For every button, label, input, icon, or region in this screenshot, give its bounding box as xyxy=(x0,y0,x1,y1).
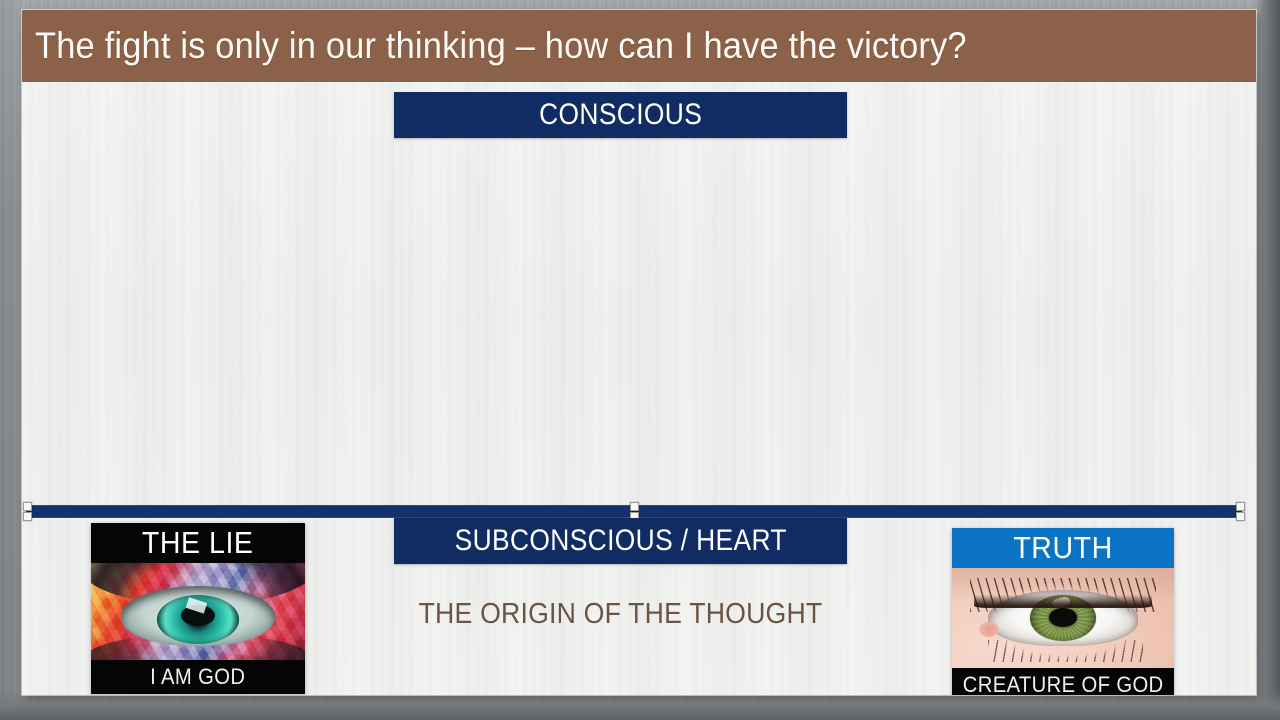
slide-title: The fight is only in our thinking – how … xyxy=(22,25,967,67)
horizontal-divider-line[interactable] xyxy=(26,505,1242,518)
truth-panel[interactable]: TRUTH CREATURE OF GOD xyxy=(952,528,1174,695)
origin-of-thought-text: THE ORIGIN OF THE THOUGHT xyxy=(412,598,829,631)
resize-handle-bottom-left[interactable] xyxy=(23,512,32,521)
conscious-label-text: CONSCIOUS xyxy=(539,98,702,132)
slide-title-bar[interactable]: The fight is only in our thinking – how … xyxy=(22,10,1256,82)
lie-panel-footer-text: I AM GOD xyxy=(150,664,245,690)
presentation-viewport: The fight is only in our thinking – how … xyxy=(0,0,1280,720)
lie-panel-image xyxy=(91,563,305,660)
truth-panel-footer-text: CREATURE OF GOD xyxy=(963,672,1164,695)
lie-panel-header-text: THE LIE xyxy=(142,525,254,561)
truth-panel-footer: CREATURE OF GOD xyxy=(952,668,1174,695)
low-poly-rainbow-eye-icon xyxy=(91,563,305,660)
lie-panel-header: THE LIE xyxy=(91,523,305,563)
right-edge-shadow xyxy=(1254,0,1280,720)
realistic-green-eye-icon xyxy=(952,568,1174,668)
resize-handle-top-left[interactable] xyxy=(23,502,32,511)
subconscious-label-box[interactable]: SUBCONSCIOUS / HEART xyxy=(394,518,847,564)
truth-panel-header-text: TRUTH xyxy=(1013,530,1112,566)
resize-handle-bottom-right[interactable] xyxy=(1236,512,1245,521)
subconscious-label-text: SUBCONSCIOUS / HEART xyxy=(454,524,786,558)
conscious-label-box[interactable]: CONSCIOUS xyxy=(394,92,847,138)
resize-handle-top-middle[interactable] xyxy=(630,502,639,511)
truth-panel-image xyxy=(952,568,1174,668)
slide-canvas[interactable]: The fight is only in our thinking – how … xyxy=(22,10,1256,695)
lie-panel[interactable]: THE LIE I AM GOD xyxy=(91,523,305,694)
resize-handle-top-right[interactable] xyxy=(1236,502,1245,511)
truth-panel-header: TRUTH xyxy=(952,528,1174,568)
lie-panel-footer: I AM GOD xyxy=(91,660,305,694)
